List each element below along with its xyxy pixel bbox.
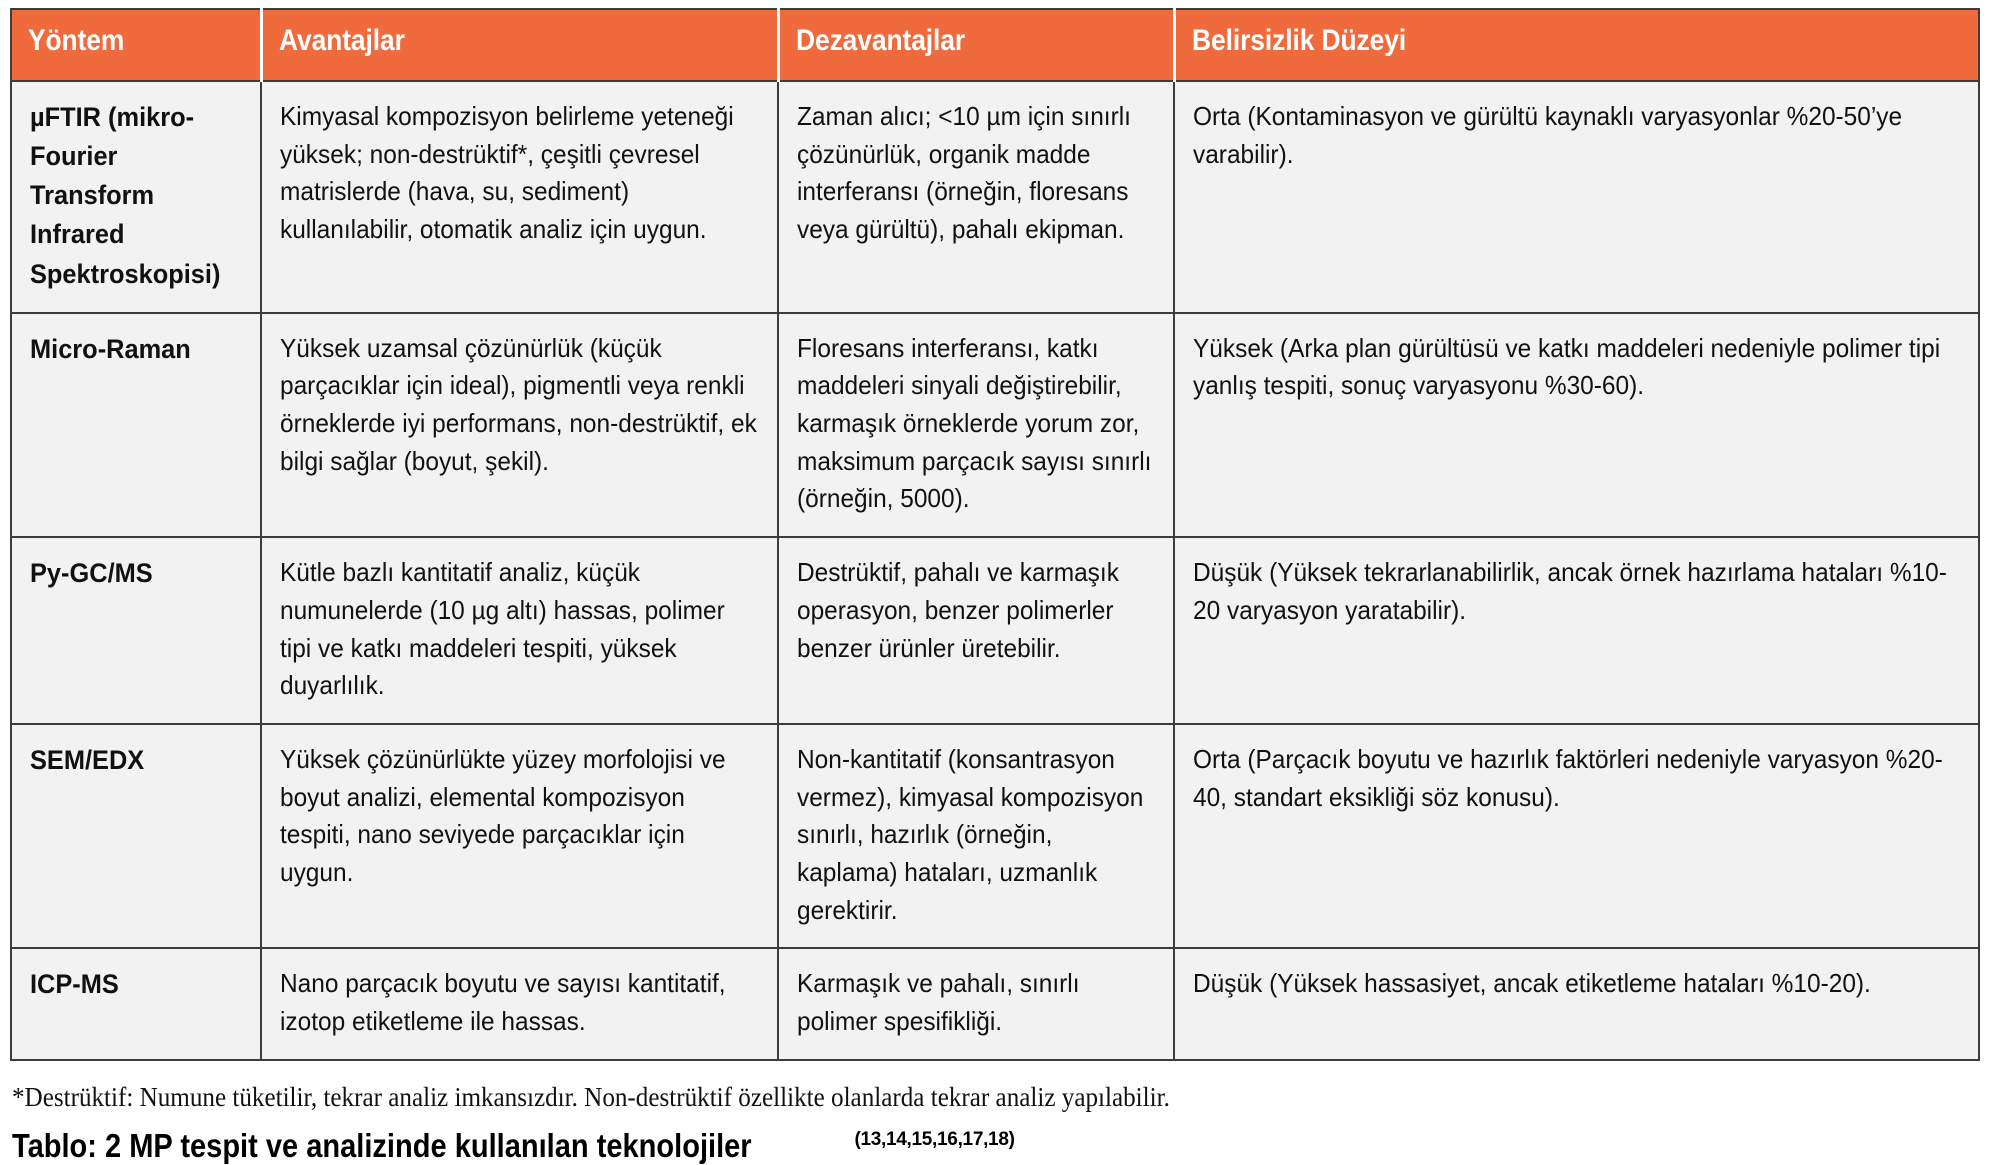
column-header-belirsizlik-duzeyi: Belirsizlik Düzeyi xyxy=(1174,9,1979,81)
table-header: Yöntem Avantajlar Dezavantajlar Belirsiz… xyxy=(11,9,1979,81)
cell-advantages-text: Kimyasal kompozisyon belirleme yeteneği … xyxy=(280,98,757,249)
cell-disadvantages: Non-kantitatif (konsantrasyon vermez), k… xyxy=(778,724,1174,948)
cell-advantages: Kimyasal kompozisyon belirleme yeteneği … xyxy=(261,81,778,313)
column-header-avantajlar-label: Avantajlar xyxy=(279,24,703,58)
table-row: Micro-Raman Yüksek uzamsal çözünürlük (k… xyxy=(11,313,1979,537)
table-row: µFTIR (mikro-Fourier Transform Infrared … xyxy=(11,81,1979,313)
cell-advantages-text: Yüksek çözünürlükte yüzey morfolojisi ve… xyxy=(280,741,757,892)
column-header-yontem-label: Yöntem xyxy=(28,24,218,58)
column-header-belirsizlik-duzeyi-label: Belirsizlik Düzeyi xyxy=(1192,24,1870,58)
cell-uncertainty-text: Düşük (Yüksek tekrarlanabilirlik, ancak … xyxy=(1193,554,1957,629)
cell-method: Py-GC/MS xyxy=(11,537,261,724)
cell-disadvantages: Destrüktif, pahalı ve karmaşık operasyon… xyxy=(778,537,1174,724)
cell-advantages: Yüksek çözünürlükte yüzey morfolojisi ve… xyxy=(261,724,778,948)
cell-disadvantages-text: Karmaşık ve pahalı, sınırlı polimer spes… xyxy=(797,965,1154,1040)
cell-uncertainty-text: Orta (Kontaminasyon ve gürültü kaynaklı … xyxy=(1193,98,1957,173)
cell-method-text: ICP-MS xyxy=(30,965,241,1004)
column-header-dezavantajlar: Dezavantajlar xyxy=(778,9,1174,81)
column-header-dezavantajlar-label: Dezavantajlar xyxy=(796,24,1114,58)
cell-disadvantages: Karmaşık ve pahalı, sınırlı polimer spes… xyxy=(778,948,1174,1059)
cell-uncertainty: Düşük (Yüksek tekrarlanabilirlik, ancak … xyxy=(1174,537,1979,724)
cell-method: ICP-MS xyxy=(11,948,261,1059)
cell-advantages-text: Yüksek uzamsal çözünürlük (küçük parçacı… xyxy=(280,330,757,481)
cell-disadvantages-text: Zaman alıcı; <10 µm için sınırlı çözünür… xyxy=(797,98,1154,249)
table-page: Yöntem Avantajlar Dezavantajlar Belirsiz… xyxy=(0,0,1989,1140)
cell-method-text: SEM/EDX xyxy=(30,741,241,780)
cell-disadvantages-text: Destrüktif, pahalı ve karmaşık operasyon… xyxy=(797,554,1154,667)
cell-uncertainty: Orta (Parçacık boyutu ve hazırlık faktör… xyxy=(1174,724,1979,948)
cell-disadvantages: Floresans interferansı, katkı maddeleri … xyxy=(778,313,1174,537)
table-caption-text: Tablo: 2 MP tespit ve analizinde kullanı… xyxy=(12,1127,752,1165)
cell-advantages: Yüksek uzamsal çözünürlük (küçük parçacı… xyxy=(261,313,778,537)
methods-comparison-table: Yöntem Avantajlar Dezavantajlar Belirsiz… xyxy=(10,8,1980,1061)
column-header-avantajlar: Avantajlar xyxy=(261,9,778,81)
cell-uncertainty: Yüksek (Arka plan gürültüsü ve katkı mad… xyxy=(1174,313,1979,537)
table-row: SEM/EDX Yüksek çözünürlükte yüzey morfol… xyxy=(11,724,1979,948)
table-footnote-text: *Destrüktif: Numune tüketilir, tekrar an… xyxy=(12,1081,1170,1113)
cell-method: SEM/EDX xyxy=(11,724,261,948)
cell-advantages: Nano parçacık boyutu ve sayısı kantitati… xyxy=(261,948,778,1059)
cell-advantages-text: Kütle bazlı kantitatif analiz, küçük num… xyxy=(280,554,757,705)
cell-disadvantages-text: Floresans interferansı, katkı maddeleri … xyxy=(797,330,1154,518)
table-row: ICP-MS Nano parçacık boyutu ve sayısı ka… xyxy=(11,948,1979,1059)
cell-uncertainty: Orta (Kontaminasyon ve gürültü kaynaklı … xyxy=(1174,81,1979,313)
table-header-row: Yöntem Avantajlar Dezavantajlar Belirsiz… xyxy=(11,9,1979,81)
cell-disadvantages: Zaman alıcı; <10 µm için sınırlı çözünür… xyxy=(778,81,1174,313)
table-caption: Tablo: 2 MP tespit ve analizinde kullanı… xyxy=(10,1127,1979,1165)
cell-uncertainty: Düşük (Yüksek hassasiyet, ancak etiketle… xyxy=(1174,948,1979,1059)
cell-method: Micro-Raman xyxy=(11,313,261,537)
cell-advantages: Kütle bazlı kantitatif analiz, küçük num… xyxy=(261,537,778,724)
cell-disadvantages-text: Non-kantitatif (konsantrasyon vermez), k… xyxy=(797,741,1154,929)
cell-method-text: Micro-Raman xyxy=(30,330,241,369)
cell-method-text: µFTIR (mikro-Fourier Transform Infrared … xyxy=(30,98,241,294)
cell-uncertainty-text: Yüksek (Arka plan gürültüsü ve katkı mad… xyxy=(1193,330,1957,405)
table-footnote: *Destrüktif: Numune tüketilir, tekrar an… xyxy=(10,1081,1979,1113)
cell-uncertainty-text: Orta (Parçacık boyutu ve hazırlık faktör… xyxy=(1193,741,1957,816)
table-body: µFTIR (mikro-Fourier Transform Infrared … xyxy=(11,81,1979,1060)
cell-method-text: Py-GC/MS xyxy=(30,554,241,593)
table-row: Py-GC/MS Kütle bazlı kantitatif analiz, … xyxy=(11,537,1979,724)
column-header-yontem: Yöntem xyxy=(11,9,261,81)
cell-uncertainty-text: Düşük (Yüksek hassasiyet, ancak etiketle… xyxy=(1193,965,1957,1003)
cell-method: µFTIR (mikro-Fourier Transform Infrared … xyxy=(11,81,261,313)
cell-advantages-text: Nano parçacık boyutu ve sayısı kantitati… xyxy=(280,965,757,1040)
